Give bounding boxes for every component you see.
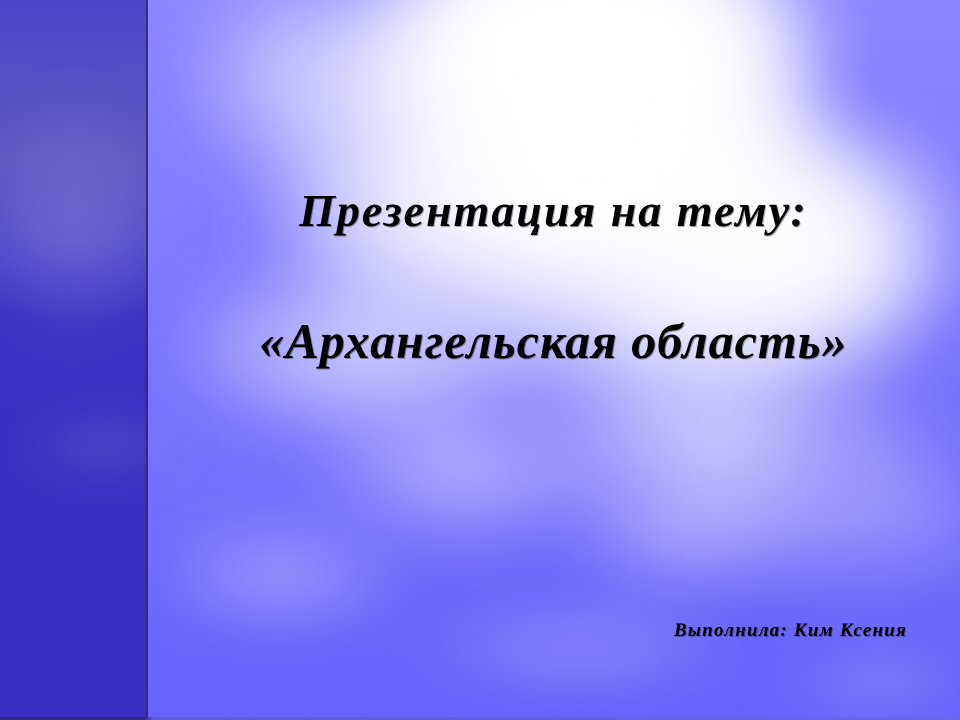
presentation-slide: Презентация на тему: «Архангельская обла… <box>0 0 960 720</box>
author-credit: Выполнила: Ким Ксения <box>147 620 907 642</box>
left-side-band <box>0 0 147 720</box>
slide-title-line-1: Презентация на тему: <box>147 184 960 238</box>
slide-title-line-2: «Архангельская область» <box>147 312 960 370</box>
slide-content-area: Презентация на тему: «Архангельская обла… <box>147 0 960 720</box>
